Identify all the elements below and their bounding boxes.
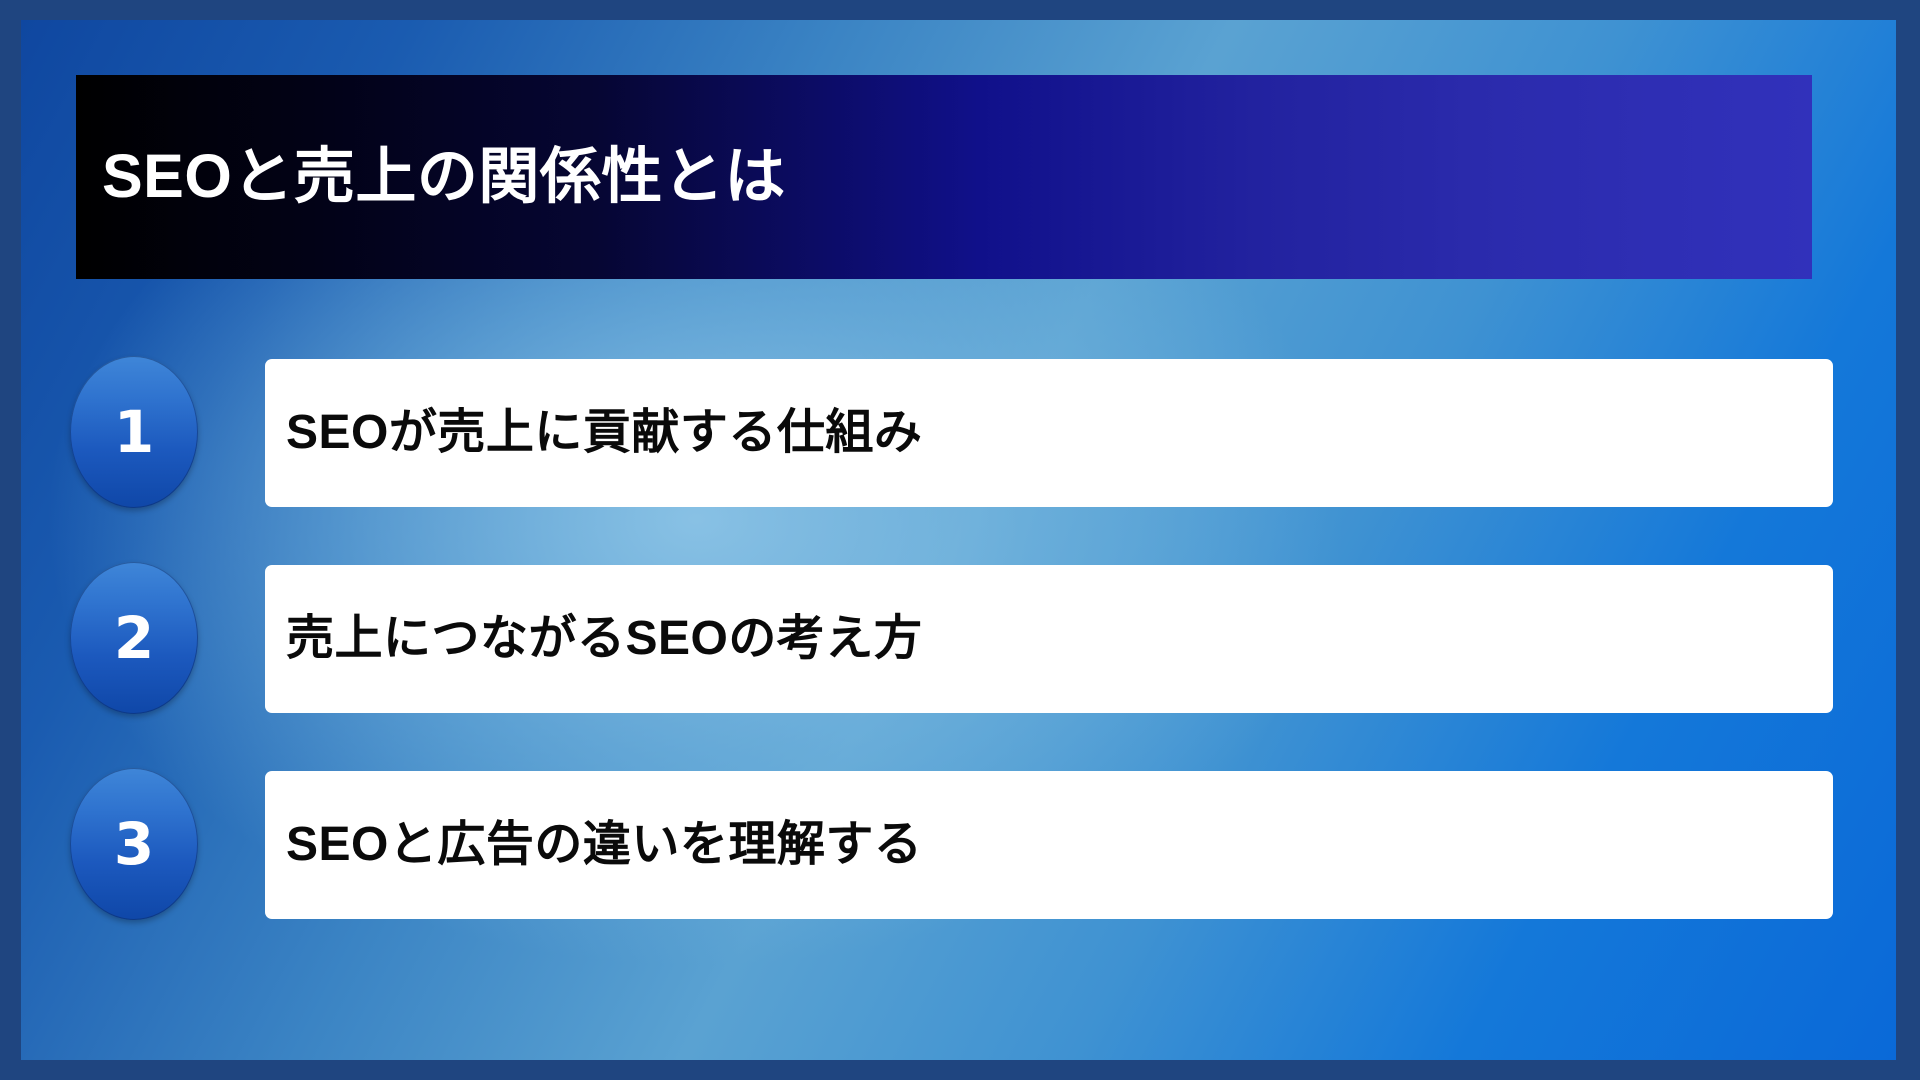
list-item[interactable]: 2 売上につながるSEOの考え方 <box>21 562 1896 712</box>
item-card-label: SEOと広告の違いを理解する <box>286 817 922 872</box>
item-number-badge: 2 <box>70 562 198 714</box>
item-card-label: SEOが売上に貢献する仕組み <box>286 405 922 460</box>
slide-canvas: SEOと売上の関係性とは 1 SEOが売上に貢献する仕組み 2 売上につながるS… <box>21 20 1896 1060</box>
item-number-label: 1 <box>114 403 154 461</box>
agenda-list: 1 SEOが売上に貢献する仕組み 2 売上につながるSEOの考え方 3 <box>21 356 1896 974</box>
item-number-label: 2 <box>114 609 154 667</box>
list-item[interactable]: 3 SEOと広告の違いを理解する <box>21 768 1896 918</box>
item-card[interactable]: SEOと広告の違いを理解する <box>265 771 1833 919</box>
page-title: SEOと売上の関係性とは <box>102 143 786 210</box>
item-number-badge: 1 <box>70 356 198 508</box>
item-card-label: 売上につながるSEOの考え方 <box>286 611 922 666</box>
item-card[interactable]: SEOが売上に貢献する仕組み <box>265 359 1833 507</box>
slide-frame: SEOと売上の関係性とは 1 SEOが売上に貢献する仕組み 2 売上につながるS… <box>0 0 1920 1080</box>
title-banner: SEOと売上の関係性とは <box>76 75 1812 279</box>
list-item[interactable]: 1 SEOが売上に貢献する仕組み <box>21 356 1896 506</box>
item-card[interactable]: 売上につながるSEOの考え方 <box>265 565 1833 713</box>
item-number-label: 3 <box>114 815 154 873</box>
item-number-badge: 3 <box>70 768 198 920</box>
